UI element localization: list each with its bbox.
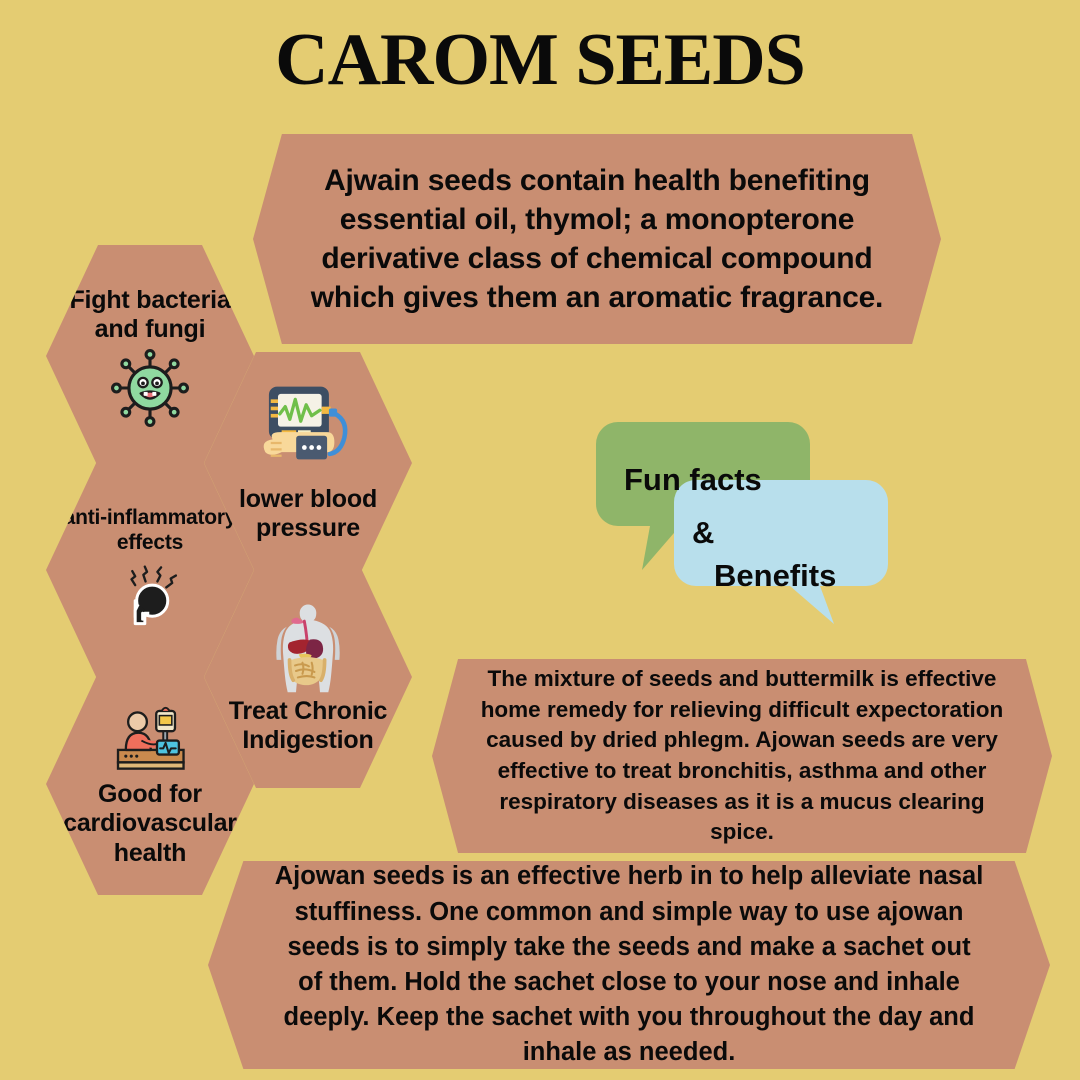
banner-intro-text: Ajwain seeds contain health benefiting e…: [295, 161, 899, 317]
banner-respiratory-text: The mixture of seeds and buttermilk is e…: [474, 664, 1010, 848]
blue-speech-bubble: [674, 480, 888, 624]
banner-nasal: Ajowan seeds is an effective herb in to …: [208, 861, 1050, 1069]
benefit-label-inflammation: anti-inflammatory effects: [52, 506, 248, 556]
banner-respiratory: The mixture of seeds and buttermilk is e…: [432, 659, 1052, 853]
virus-icon: [111, 349, 189, 427]
benefit-label-indigestion: Treat Chronic Indigestion: [210, 697, 406, 756]
blood-pressure-monitor-icon: [248, 383, 368, 483]
benefits-label: Benefits: [714, 558, 836, 594]
banner-intro: Ajwain seeds contain health benefiting e…: [253, 134, 941, 344]
page-title: CAROM SEEDS: [0, 22, 1080, 100]
benefit-label-blood-pressure: lower blood pressure: [210, 485, 406, 544]
digestive-system-icon: [261, 599, 355, 695]
benefit-label-cardio: Good for cardiovascular health: [52, 780, 248, 869]
infographic-canvas: CAROM SEEDS Ajwain seeds contain health …: [0, 0, 1080, 1080]
fun-facts-bubble-group: Fun facts & Benefits: [596, 418, 906, 628]
ampersand-label: &: [692, 515, 714, 551]
fun-facts-label: Fun facts: [624, 462, 762, 498]
head-pain-icon: [113, 560, 187, 634]
banner-nasal-text: Ajowan seeds is an effective herb in to …: [272, 859, 986, 1070]
medical-checkup-icon: [107, 700, 193, 778]
benefit-label-bacteria: Fight bacteria and fungi: [52, 286, 248, 345]
